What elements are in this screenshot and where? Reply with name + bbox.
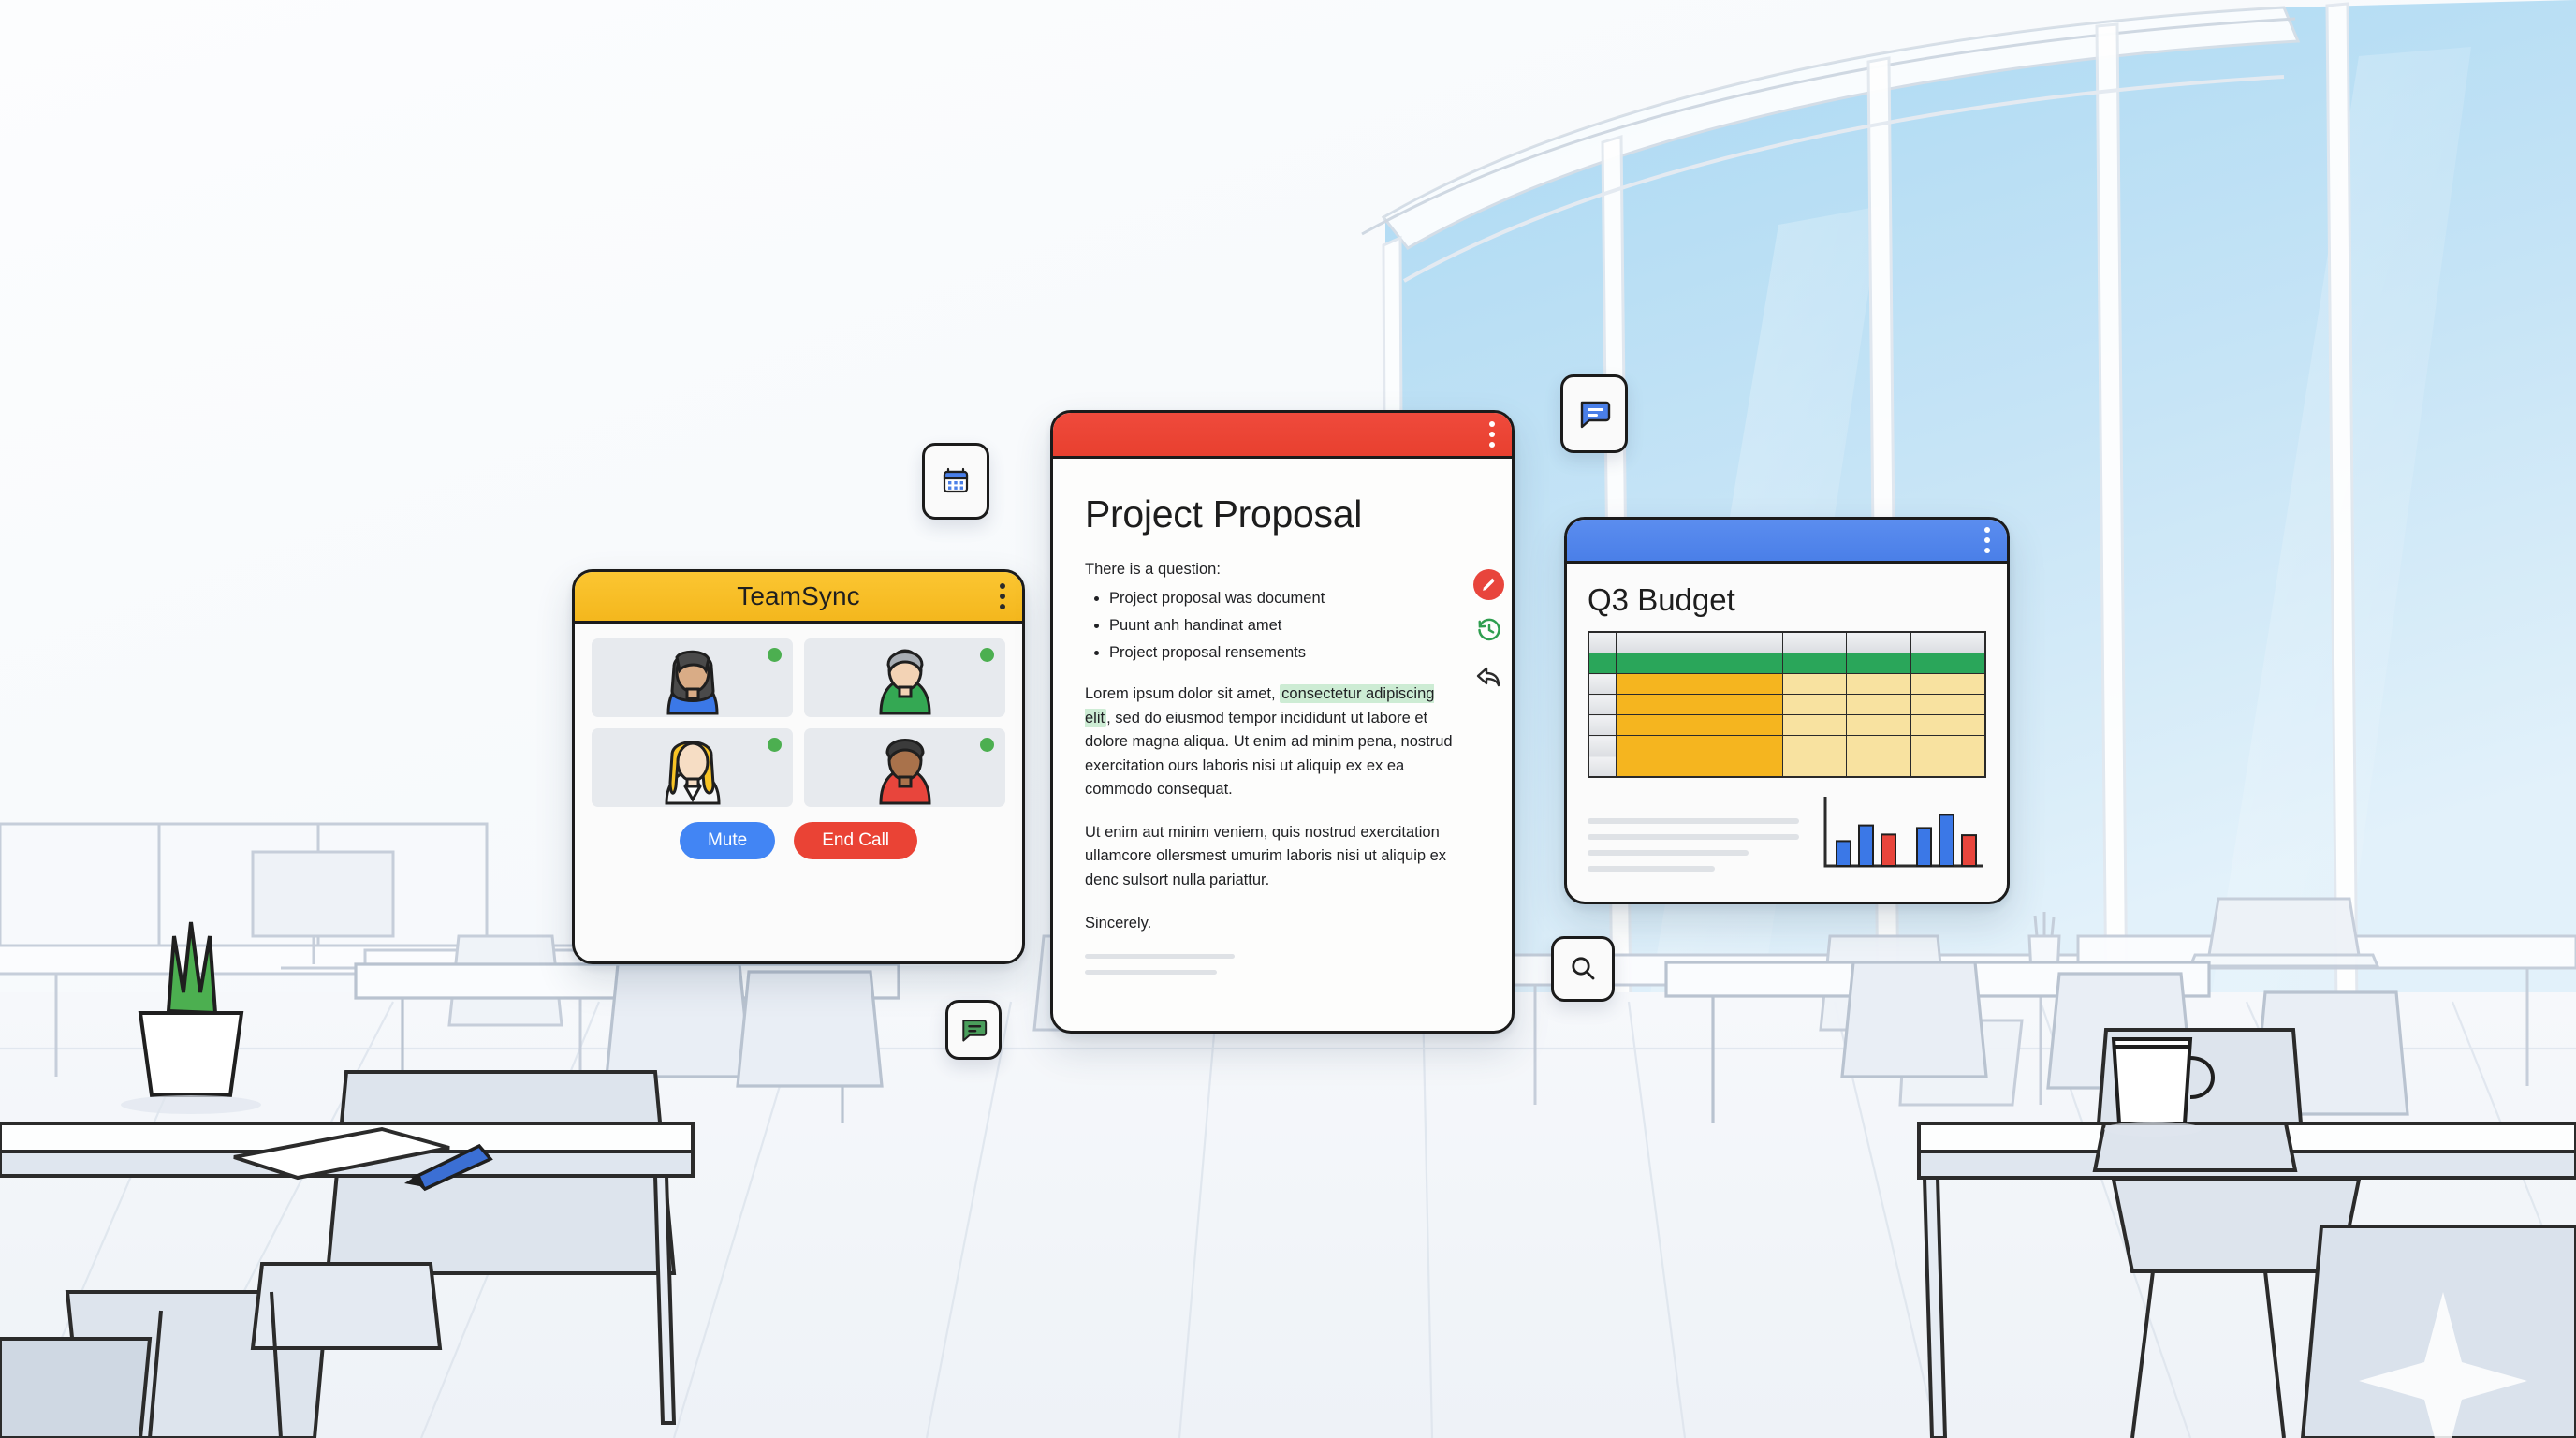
table-cell[interactable] [1910, 695, 1985, 715]
budget-table[interactable] [1588, 631, 1986, 778]
table-cell[interactable] [1847, 736, 1910, 756]
chat-chip-blue[interactable] [1560, 374, 1628, 453]
row-header-cell[interactable] [1588, 695, 1617, 715]
avatar [866, 732, 944, 807]
document-lead: There is a question: [1085, 561, 1480, 579]
teamsync-titlebar: TeamSync [575, 572, 1022, 624]
chart-bar [1917, 828, 1931, 866]
teamsync-title: TeamSync [737, 581, 860, 611]
document-window[interactable]: Project Proposal There is a question: Pr… [1050, 410, 1515, 1034]
table-cell[interactable] [1783, 653, 1847, 674]
document-titlebar [1053, 413, 1512, 459]
list-item: Project proposal rensements [1109, 644, 1480, 662]
list-item: Project proposal was document [1109, 590, 1480, 608]
row-header-cell[interactable] [1588, 715, 1617, 736]
online-status-dot [768, 648, 782, 662]
table-cell[interactable] [1910, 715, 1985, 736]
list-item: Puunt anh handinat amet [1109, 617, 1480, 635]
table-cell[interactable] [1617, 736, 1783, 756]
participant-tile[interactable] [592, 638, 793, 717]
call-controls: Mute End Call [592, 822, 1005, 859]
placeholder-text-lines [1588, 818, 1799, 873]
spreadsheet-body: Q3 Budget [1567, 564, 2007, 885]
edit-icon[interactable] [1473, 569, 1504, 600]
reply-arrow-icon[interactable] [1476, 665, 1502, 694]
column-header-cell[interactable] [1910, 632, 1985, 653]
table-cell[interactable] [1847, 653, 1910, 674]
kebab-menu-icon[interactable] [1000, 583, 1005, 609]
spreadsheet-titlebar [1567, 520, 2007, 564]
table-cell[interactable] [1617, 756, 1783, 778]
search-chip[interactable] [1551, 936, 1615, 1002]
document-paragraph-2: Ut enim aut minim veniem, quis nostrud e… [1085, 821, 1459, 893]
kebab-menu-icon[interactable] [1489, 421, 1495, 448]
table-row [1588, 674, 1985, 695]
table-cell[interactable] [1847, 715, 1910, 736]
column-header-cell[interactable] [1783, 632, 1847, 653]
table-cell[interactable] [1783, 695, 1847, 715]
version-history-icon[interactable] [1476, 617, 1502, 648]
chat-bubble-blue-icon [1577, 398, 1611, 430]
avatar [653, 642, 732, 717]
participant-tile[interactable] [804, 728, 1005, 807]
column-header-cell[interactable] [1847, 632, 1910, 653]
table-cell[interactable] [1783, 736, 1847, 756]
placeholder-line [1588, 834, 1799, 840]
table-cell[interactable] [1617, 715, 1783, 736]
online-status-dot [980, 648, 994, 662]
mute-button[interactable]: Mute [680, 822, 775, 859]
document-paragraph-1: Lorem ipsum dolor sit amet, consectetur … [1085, 682, 1459, 802]
sheet-title: Q3 Budget [1588, 582, 1986, 618]
signature-line [1085, 970, 1217, 975]
paragraph-text-before: Lorem ipsum dolor sit amet, [1085, 685, 1280, 702]
budget-bar-chart [1818, 793, 1986, 873]
page-title: Project Proposal [1085, 492, 1480, 536]
placeholder-line [1588, 866, 1715, 872]
row-header-cell[interactable] [1588, 653, 1617, 674]
online-status-dot [768, 738, 782, 752]
end-call-button[interactable]: End Call [794, 822, 917, 859]
online-status-dot [980, 738, 994, 752]
spreadsheet-window[interactable]: Q3 Budget [1564, 517, 2010, 904]
table-cell[interactable] [1847, 756, 1910, 778]
table-cell[interactable] [1783, 674, 1847, 695]
placeholder-line [1588, 850, 1749, 856]
avatar [653, 732, 732, 807]
document-body: Project Proposal There is a question: Pr… [1053, 459, 1512, 1003]
chart-bar [1881, 834, 1895, 866]
table-cell[interactable] [1910, 653, 1985, 674]
document-closing: Sincerely. [1085, 912, 1459, 936]
row-header-cell[interactable] [1588, 674, 1617, 695]
teamsync-body: Mute End Call [575, 624, 1022, 873]
table-cell[interactable] [1910, 674, 1985, 695]
table-cell[interactable] [1617, 653, 1783, 674]
row-header-cell[interactable] [1588, 756, 1617, 778]
table-cell[interactable] [1910, 756, 1985, 778]
search-icon [1568, 954, 1598, 984]
column-header-cell[interactable] [1617, 632, 1783, 653]
table-cell[interactable] [1847, 674, 1910, 695]
table-row [1588, 756, 1985, 778]
table-cell[interactable] [1617, 674, 1783, 695]
avatar [866, 642, 944, 717]
teamsync-window[interactable]: TeamSync [572, 569, 1025, 964]
chat-chip-green[interactable] [945, 1000, 1002, 1060]
table-row [1588, 653, 1985, 674]
document-bullet-list: Project proposal was document Puunt anh … [1085, 590, 1480, 662]
participant-tile[interactable] [592, 728, 793, 807]
participant-grid [592, 638, 1005, 807]
paragraph-text-after: , sed do eiusmod tempor incididunt ut la… [1085, 710, 1453, 799]
chart-bar [1939, 814, 1954, 866]
placeholder-line [1588, 818, 1799, 824]
document-side-actions [1473, 569, 1504, 694]
table-cell[interactable] [1617, 695, 1783, 715]
table-row [1588, 736, 1985, 756]
table-row [1588, 715, 1985, 736]
sheet-footer [1588, 793, 1986, 873]
signature-line [1085, 954, 1235, 959]
chart-bar [1837, 841, 1851, 866]
table-column-header-row [1588, 632, 1985, 653]
table-cell[interactable] [1783, 756, 1847, 778]
kebab-menu-icon[interactable] [1984, 527, 1990, 553]
chart-bar [1859, 826, 1873, 866]
row-header-cell[interactable] [1588, 736, 1617, 756]
calendar-icon [940, 465, 972, 497]
participant-tile[interactable] [804, 638, 1005, 717]
table-cell[interactable] [1910, 736, 1985, 756]
calendar-chip[interactable] [922, 443, 989, 520]
scene-root: TeamSync [0, 0, 2576, 1438]
table-cell[interactable] [1783, 715, 1847, 736]
table-cell[interactable] [1847, 695, 1910, 715]
chat-bubble-green-icon [959, 1017, 988, 1043]
corner-cell[interactable] [1588, 632, 1617, 653]
table-row [1588, 695, 1985, 715]
chart-bar [1962, 835, 1976, 866]
